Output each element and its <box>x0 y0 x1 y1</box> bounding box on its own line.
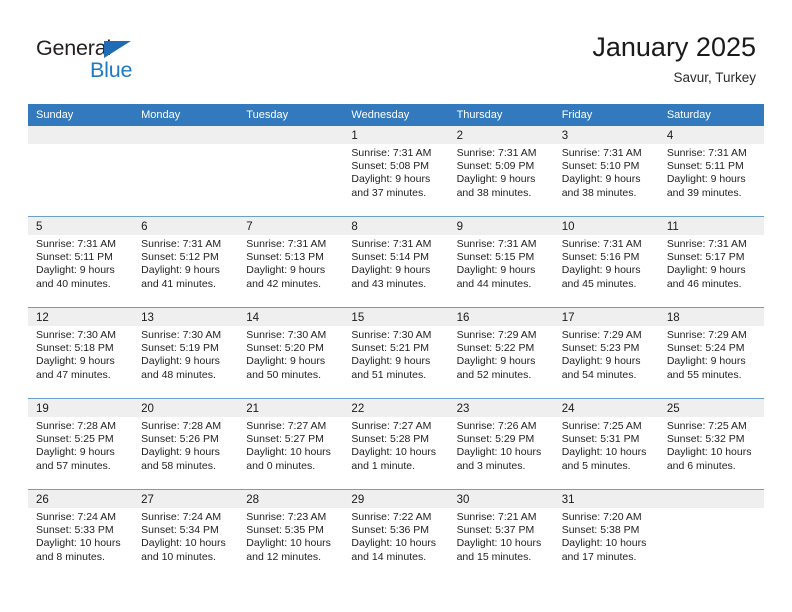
day-details: Sunrise: 7:26 AMSunset: 5:29 PMDaylight:… <box>449 417 554 473</box>
day-number-band: 25 <box>659 399 764 417</box>
calendar-day-cell[interactable]: 11Sunrise: 7:31 AMSunset: 5:17 PMDayligh… <box>659 217 764 307</box>
calendar-day-cell[interactable]: 19Sunrise: 7:28 AMSunset: 5:25 PMDayligh… <box>28 399 133 489</box>
calendar-body: 1Sunrise: 7:31 AMSunset: 5:08 PMDaylight… <box>28 126 764 580</box>
day-detail-line: and 50 minutes. <box>246 369 337 382</box>
day-number: 26 <box>36 494 49 506</box>
day-details: Sunrise: 7:24 AMSunset: 5:34 PMDaylight:… <box>133 508 238 564</box>
day-number-band: 11 <box>659 217 764 235</box>
day-number-band: 23 <box>449 399 554 417</box>
day-number-band: 2 <box>449 126 554 144</box>
day-detail-line: and 48 minutes. <box>141 369 232 382</box>
day-details: Sunrise: 7:28 AMSunset: 5:25 PMDaylight:… <box>28 417 133 473</box>
day-detail-line: Daylight: 9 hours <box>351 173 442 186</box>
day-number: 16 <box>457 312 470 324</box>
day-number: 19 <box>36 403 49 415</box>
day-number: 2 <box>457 130 463 142</box>
day-detail-line: and 41 minutes. <box>141 278 232 291</box>
day-detail-line: Sunset: 5:20 PM <box>246 342 337 355</box>
day-detail-line: Daylight: 9 hours <box>351 264 442 277</box>
day-detail-line: Sunrise: 7:20 AM <box>562 511 653 524</box>
day-details <box>133 144 238 147</box>
calendar-day-cell[interactable]: 1Sunrise: 7:31 AMSunset: 5:08 PMDaylight… <box>343 126 448 216</box>
calendar-day-cell[interactable]: 20Sunrise: 7:28 AMSunset: 5:26 PMDayligh… <box>133 399 238 489</box>
day-detail-line: and 54 minutes. <box>562 369 653 382</box>
calendar-day-cell[interactable]: 21Sunrise: 7:27 AMSunset: 5:27 PMDayligh… <box>238 399 343 489</box>
day-detail-line: and 5 minutes. <box>562 460 653 473</box>
day-number-band: 26 <box>28 490 133 508</box>
day-detail-line: Sunrise: 7:30 AM <box>246 329 337 342</box>
day-details: Sunrise: 7:30 AMSunset: 5:18 PMDaylight:… <box>28 326 133 382</box>
day-detail-line: Sunset: 5:33 PM <box>36 524 127 537</box>
day-detail-line: Daylight: 9 hours <box>457 355 548 368</box>
general-blue-logo[interactable]: General Blue <box>36 38 166 88</box>
day-detail-line: Sunset: 5:26 PM <box>141 433 232 446</box>
day-details: Sunrise: 7:30 AMSunset: 5:19 PMDaylight:… <box>133 326 238 382</box>
calendar-day-cell[interactable]: 17Sunrise: 7:29 AMSunset: 5:23 PMDayligh… <box>554 308 659 398</box>
day-detail-line: Sunset: 5:29 PM <box>457 433 548 446</box>
day-detail-line: Sunrise: 7:24 AM <box>36 511 127 524</box>
day-number-band: 5 <box>28 217 133 235</box>
day-detail-line: Sunrise: 7:31 AM <box>246 238 337 251</box>
calendar-grid: SundayMondayTuesdayWednesdayThursdayFrid… <box>28 104 764 580</box>
weekday-header-sunday: Sunday <box>28 104 133 126</box>
day-details: Sunrise: 7:20 AMSunset: 5:38 PMDaylight:… <box>554 508 659 564</box>
day-detail-line: Daylight: 9 hours <box>36 446 127 459</box>
title-block: January 2025 Savur, Turkey <box>592 32 756 86</box>
day-detail-line: Sunset: 5:38 PM <box>562 524 653 537</box>
day-number: 13 <box>141 312 154 324</box>
day-number-band: 16 <box>449 308 554 326</box>
calendar-day-cell[interactable]: 10Sunrise: 7:31 AMSunset: 5:16 PMDayligh… <box>554 217 659 307</box>
day-details: Sunrise: 7:31 AMSunset: 5:11 PMDaylight:… <box>659 144 764 200</box>
day-number-band: 30 <box>449 490 554 508</box>
day-number: 24 <box>562 403 575 415</box>
calendar-day-cell[interactable]: 23Sunrise: 7:26 AMSunset: 5:29 PMDayligh… <box>449 399 554 489</box>
day-number-band: 27 <box>133 490 238 508</box>
day-detail-line: and 42 minutes. <box>246 278 337 291</box>
calendar-day-cell[interactable]: 15Sunrise: 7:30 AMSunset: 5:21 PMDayligh… <box>343 308 448 398</box>
day-detail-line: Daylight: 10 hours <box>141 537 232 550</box>
day-number: 4 <box>667 130 673 142</box>
day-detail-line: and 0 minutes. <box>246 460 337 473</box>
day-number-band: 9 <box>449 217 554 235</box>
day-details: Sunrise: 7:22 AMSunset: 5:36 PMDaylight:… <box>343 508 448 564</box>
calendar-day-cell[interactable]: 4Sunrise: 7:31 AMSunset: 5:11 PMDaylight… <box>659 126 764 216</box>
calendar-day-cell[interactable]: 7Sunrise: 7:31 AMSunset: 5:13 PMDaylight… <box>238 217 343 307</box>
day-detail-line: and 17 minutes. <box>562 551 653 564</box>
day-detail-line: Sunrise: 7:31 AM <box>562 147 653 160</box>
day-detail-line: Daylight: 10 hours <box>351 537 442 550</box>
calendar-day-cell[interactable]: 16Sunrise: 7:29 AMSunset: 5:22 PMDayligh… <box>449 308 554 398</box>
day-detail-line: Sunset: 5:35 PM <box>246 524 337 537</box>
calendar-day-cell[interactable]: 18Sunrise: 7:29 AMSunset: 5:24 PMDayligh… <box>659 308 764 398</box>
calendar-day-cell[interactable]: 8Sunrise: 7:31 AMSunset: 5:14 PMDaylight… <box>343 217 448 307</box>
day-details: Sunrise: 7:28 AMSunset: 5:26 PMDaylight:… <box>133 417 238 473</box>
day-detail-line: Daylight: 9 hours <box>667 264 758 277</box>
day-detail-line: and 15 minutes. <box>457 551 548 564</box>
day-number-band: 4 <box>659 126 764 144</box>
day-detail-line: Daylight: 9 hours <box>562 355 653 368</box>
calendar-day-cell-empty <box>133 126 238 216</box>
calendar-day-cell[interactable]: 2Sunrise: 7:31 AMSunset: 5:09 PMDaylight… <box>449 126 554 216</box>
day-detail-line: Sunset: 5:21 PM <box>351 342 442 355</box>
day-detail-line: Sunset: 5:22 PM <box>457 342 548 355</box>
day-details: Sunrise: 7:31 AMSunset: 5:15 PMDaylight:… <box>449 235 554 291</box>
day-detail-line: Sunrise: 7:28 AM <box>36 420 127 433</box>
day-detail-line: Sunset: 5:11 PM <box>36 251 127 264</box>
day-detail-line: Daylight: 9 hours <box>36 264 127 277</box>
day-detail-line: Sunrise: 7:29 AM <box>667 329 758 342</box>
day-number: 23 <box>457 403 470 415</box>
day-detail-line: and 55 minutes. <box>667 369 758 382</box>
day-details <box>238 144 343 147</box>
day-detail-line: Sunset: 5:23 PM <box>562 342 653 355</box>
calendar-week-row: 12Sunrise: 7:30 AMSunset: 5:18 PMDayligh… <box>28 308 764 399</box>
day-detail-line: Daylight: 10 hours <box>457 446 548 459</box>
day-detail-line: Sunrise: 7:29 AM <box>562 329 653 342</box>
day-number-band: 6 <box>133 217 238 235</box>
day-detail-line: Daylight: 10 hours <box>562 537 653 550</box>
day-number: 6 <box>141 221 147 233</box>
day-detail-line: Sunrise: 7:22 AM <box>351 511 442 524</box>
day-detail-line: Sunrise: 7:31 AM <box>457 147 548 160</box>
day-details: Sunrise: 7:31 AMSunset: 5:12 PMDaylight:… <box>133 235 238 291</box>
day-number-band <box>238 126 343 144</box>
day-detail-line: Sunrise: 7:29 AM <box>457 329 548 342</box>
day-detail-line: and 40 minutes. <box>36 278 127 291</box>
calendar-day-cell-empty <box>28 126 133 216</box>
day-number: 25 <box>667 403 680 415</box>
day-number: 17 <box>562 312 575 324</box>
calendar-week-row: 26Sunrise: 7:24 AMSunset: 5:33 PMDayligh… <box>28 490 764 580</box>
day-details: Sunrise: 7:31 AMSunset: 5:11 PMDaylight:… <box>28 235 133 291</box>
triangle-icon <box>104 41 131 58</box>
day-detail-line: Sunset: 5:24 PM <box>667 342 758 355</box>
day-detail-line: Daylight: 9 hours <box>457 264 548 277</box>
day-number-band: 8 <box>343 217 448 235</box>
calendar-day-cell[interactable]: 29Sunrise: 7:22 AMSunset: 5:36 PMDayligh… <box>343 490 448 580</box>
day-number: 11 <box>667 221 679 233</box>
day-number: 21 <box>246 403 259 415</box>
day-details: Sunrise: 7:31 AMSunset: 5:13 PMDaylight:… <box>238 235 343 291</box>
day-detail-line: Sunrise: 7:24 AM <box>141 511 232 524</box>
page-title: January 2025 <box>592 32 756 63</box>
day-detail-line: and 3 minutes. <box>457 460 548 473</box>
day-detail-line: Sunrise: 7:31 AM <box>457 238 548 251</box>
day-number-band: 15 <box>343 308 448 326</box>
day-number-band: 24 <box>554 399 659 417</box>
weekday-header-tuesday: Tuesday <box>238 104 343 126</box>
calendar-day-cell[interactable]: 25Sunrise: 7:25 AMSunset: 5:32 PMDayligh… <box>659 399 764 489</box>
day-detail-line: Sunrise: 7:28 AM <box>141 420 232 433</box>
weekday-header-saturday: Saturday <box>659 104 764 126</box>
day-number-band: 29 <box>343 490 448 508</box>
day-details: Sunrise: 7:27 AMSunset: 5:28 PMDaylight:… <box>343 417 448 473</box>
day-detail-line: Daylight: 9 hours <box>351 355 442 368</box>
calendar-day-cell[interactable]: 28Sunrise: 7:23 AMSunset: 5:35 PMDayligh… <box>238 490 343 580</box>
day-detail-line: Sunrise: 7:31 AM <box>562 238 653 251</box>
day-number-band <box>133 126 238 144</box>
day-details: Sunrise: 7:30 AMSunset: 5:21 PMDaylight:… <box>343 326 448 382</box>
day-number-band: 3 <box>554 126 659 144</box>
day-detail-line: Daylight: 9 hours <box>141 355 232 368</box>
day-number-band: 1 <box>343 126 448 144</box>
day-number-band: 20 <box>133 399 238 417</box>
day-detail-line: Sunrise: 7:25 AM <box>667 420 758 433</box>
day-number-band: 7 <box>238 217 343 235</box>
day-number: 5 <box>36 221 42 233</box>
day-details <box>659 508 764 511</box>
calendar-day-cell[interactable]: 22Sunrise: 7:27 AMSunset: 5:28 PMDayligh… <box>343 399 448 489</box>
day-number: 20 <box>141 403 154 415</box>
day-detail-line: Daylight: 10 hours <box>36 537 127 550</box>
day-number-band: 13 <box>133 308 238 326</box>
day-detail-line: Sunrise: 7:30 AM <box>141 329 232 342</box>
day-detail-line: Daylight: 10 hours <box>457 537 548 550</box>
day-detail-line: Sunrise: 7:31 AM <box>36 238 127 251</box>
day-detail-line: and 12 minutes. <box>246 551 337 564</box>
day-number: 9 <box>457 221 463 233</box>
day-detail-line: Daylight: 10 hours <box>351 446 442 459</box>
day-detail-line: Daylight: 10 hours <box>667 446 758 459</box>
calendar-day-cell[interactable]: 9Sunrise: 7:31 AMSunset: 5:15 PMDaylight… <box>449 217 554 307</box>
day-number: 14 <box>246 312 259 324</box>
day-detail-line: Sunrise: 7:31 AM <box>141 238 232 251</box>
day-detail-line: and 38 minutes. <box>562 187 653 200</box>
day-detail-line: Sunset: 5:13 PM <box>246 251 337 264</box>
day-details: Sunrise: 7:29 AMSunset: 5:24 PMDaylight:… <box>659 326 764 382</box>
logo-text-general: General <box>36 38 111 60</box>
day-number-band: 17 <box>554 308 659 326</box>
day-detail-line: and 44 minutes. <box>457 278 548 291</box>
calendar-page: General Blue January 2025 Savur, Turkey … <box>0 0 792 612</box>
weekday-header-thursday: Thursday <box>449 104 554 126</box>
calendar-day-cell[interactable]: 24Sunrise: 7:25 AMSunset: 5:31 PMDayligh… <box>554 399 659 489</box>
calendar-day-cell[interactable]: 30Sunrise: 7:21 AMSunset: 5:37 PMDayligh… <box>449 490 554 580</box>
day-detail-line: Sunrise: 7:31 AM <box>667 147 758 160</box>
day-detail-line: Sunset: 5:15 PM <box>457 251 548 264</box>
day-number: 12 <box>36 312 49 324</box>
weekday-header-wednesday: Wednesday <box>343 104 448 126</box>
day-detail-line: Sunset: 5:18 PM <box>36 342 127 355</box>
day-detail-line: Daylight: 10 hours <box>246 446 337 459</box>
page-header: General Blue January 2025 Savur, Turkey <box>0 0 792 100</box>
day-details: Sunrise: 7:21 AMSunset: 5:37 PMDaylight:… <box>449 508 554 564</box>
day-number: 30 <box>457 494 470 506</box>
day-number-band: 10 <box>554 217 659 235</box>
day-detail-line: and 58 minutes. <box>141 460 232 473</box>
day-detail-line: and 47 minutes. <box>36 369 127 382</box>
day-detail-line: Sunset: 5:16 PM <box>562 251 653 264</box>
day-number: 10 <box>562 221 575 233</box>
day-detail-line: Sunset: 5:37 PM <box>457 524 548 537</box>
day-details: Sunrise: 7:29 AMSunset: 5:23 PMDaylight:… <box>554 326 659 382</box>
day-details: Sunrise: 7:23 AMSunset: 5:35 PMDaylight:… <box>238 508 343 564</box>
day-detail-line: Sunrise: 7:30 AM <box>36 329 127 342</box>
day-detail-line: Daylight: 9 hours <box>141 264 232 277</box>
calendar-day-cell-empty <box>238 126 343 216</box>
day-detail-line: Daylight: 9 hours <box>36 355 127 368</box>
day-details: Sunrise: 7:31 AMSunset: 5:14 PMDaylight:… <box>343 235 448 291</box>
calendar-week-row: 19Sunrise: 7:28 AMSunset: 5:25 PMDayligh… <box>28 399 764 490</box>
day-detail-line: Sunset: 5:11 PM <box>667 160 758 173</box>
day-number: 1 <box>351 130 357 142</box>
day-details: Sunrise: 7:25 AMSunset: 5:31 PMDaylight:… <box>554 417 659 473</box>
day-detail-line: Sunset: 5:19 PM <box>141 342 232 355</box>
day-detail-line: Sunrise: 7:23 AM <box>246 511 337 524</box>
calendar-week-row: 5Sunrise: 7:31 AMSunset: 5:11 PMDaylight… <box>28 217 764 308</box>
day-number: 3 <box>562 130 568 142</box>
day-detail-line: and 37 minutes. <box>351 187 442 200</box>
day-detail-line: Daylight: 9 hours <box>562 264 653 277</box>
day-details: Sunrise: 7:31 AMSunset: 5:09 PMDaylight:… <box>449 144 554 200</box>
day-number-band <box>659 490 764 508</box>
day-details: Sunrise: 7:31 AMSunset: 5:17 PMDaylight:… <box>659 235 764 291</box>
day-number: 29 <box>351 494 364 506</box>
day-detail-line: Daylight: 9 hours <box>667 173 758 186</box>
day-detail-line: Sunset: 5:14 PM <box>351 251 442 264</box>
day-detail-line: and 6 minutes. <box>667 460 758 473</box>
day-number-band: 12 <box>28 308 133 326</box>
day-number: 7 <box>246 221 252 233</box>
day-detail-line: and 14 minutes. <box>351 551 442 564</box>
day-detail-line: and 8 minutes. <box>36 551 127 564</box>
weekday-header-row: SundayMondayTuesdayWednesdayThursdayFrid… <box>28 104 764 126</box>
day-details: Sunrise: 7:29 AMSunset: 5:22 PMDaylight:… <box>449 326 554 382</box>
calendar-week-row: 1Sunrise: 7:31 AMSunset: 5:08 PMDaylight… <box>28 126 764 217</box>
day-detail-line: Sunset: 5:17 PM <box>667 251 758 264</box>
day-number: 15 <box>351 312 364 324</box>
day-detail-line: Daylight: 9 hours <box>246 264 337 277</box>
day-detail-line: Sunrise: 7:25 AM <box>562 420 653 433</box>
page-subtitle: Savur, Turkey <box>592 70 756 86</box>
calendar-day-cell[interactable]: 12Sunrise: 7:30 AMSunset: 5:18 PMDayligh… <box>28 308 133 398</box>
day-detail-line: Sunset: 5:27 PM <box>246 433 337 446</box>
day-number-band: 28 <box>238 490 343 508</box>
day-detail-line: Sunrise: 7:27 AM <box>351 420 442 433</box>
day-detail-line: Sunrise: 7:27 AM <box>246 420 337 433</box>
day-number-band <box>28 126 133 144</box>
day-detail-line: and 51 minutes. <box>351 369 442 382</box>
day-detail-line: Daylight: 9 hours <box>246 355 337 368</box>
day-detail-line: Daylight: 9 hours <box>141 446 232 459</box>
day-number-band: 18 <box>659 308 764 326</box>
day-detail-line: and 52 minutes. <box>457 369 548 382</box>
day-detail-line: Sunrise: 7:31 AM <box>351 238 442 251</box>
day-detail-line: Sunrise: 7:31 AM <box>351 147 442 160</box>
weekday-header-friday: Friday <box>554 104 659 126</box>
day-detail-line: Sunset: 5:09 PM <box>457 160 548 173</box>
day-details: Sunrise: 7:30 AMSunset: 5:20 PMDaylight:… <box>238 326 343 382</box>
calendar-day-cell[interactable]: 5Sunrise: 7:31 AMSunset: 5:11 PMDaylight… <box>28 217 133 307</box>
day-detail-line: Sunset: 5:31 PM <box>562 433 653 446</box>
day-detail-line: Daylight: 9 hours <box>667 355 758 368</box>
day-number-band: 22 <box>343 399 448 417</box>
day-details: Sunrise: 7:31 AMSunset: 5:16 PMDaylight:… <box>554 235 659 291</box>
day-number: 31 <box>562 494 575 506</box>
day-detail-line: Sunset: 5:12 PM <box>141 251 232 264</box>
day-number: 8 <box>351 221 357 233</box>
day-detail-line: Sunrise: 7:31 AM <box>667 238 758 251</box>
day-number: 22 <box>351 403 364 415</box>
day-detail-line: Sunset: 5:28 PM <box>351 433 442 446</box>
calendar-day-cell[interactable]: 26Sunrise: 7:24 AMSunset: 5:33 PMDayligh… <box>28 490 133 580</box>
day-details: Sunrise: 7:31 AMSunset: 5:08 PMDaylight:… <box>343 144 448 200</box>
day-number: 18 <box>667 312 680 324</box>
day-detail-line: Daylight: 10 hours <box>562 446 653 459</box>
day-detail-line: and 46 minutes. <box>667 278 758 291</box>
day-detail-line: and 45 minutes. <box>562 278 653 291</box>
day-detail-line: Sunrise: 7:26 AM <box>457 420 548 433</box>
day-detail-line: Sunset: 5:25 PM <box>36 433 127 446</box>
day-detail-line: Sunset: 5:36 PM <box>351 524 442 537</box>
day-detail-line: Sunrise: 7:30 AM <box>351 329 442 342</box>
calendar-day-cell[interactable]: 31Sunrise: 7:20 AMSunset: 5:38 PMDayligh… <box>554 490 659 580</box>
day-detail-line: Sunset: 5:34 PM <box>141 524 232 537</box>
day-detail-line: Sunset: 5:32 PM <box>667 433 758 446</box>
calendar-day-cell[interactable]: 13Sunrise: 7:30 AMSunset: 5:19 PMDayligh… <box>133 308 238 398</box>
day-detail-line: Daylight: 9 hours <box>457 173 548 186</box>
calendar-day-cell[interactable]: 27Sunrise: 7:24 AMSunset: 5:34 PMDayligh… <box>133 490 238 580</box>
day-number-band: 14 <box>238 308 343 326</box>
day-detail-line: Daylight: 9 hours <box>562 173 653 186</box>
day-detail-line: and 39 minutes. <box>667 187 758 200</box>
day-details: Sunrise: 7:27 AMSunset: 5:27 PMDaylight:… <box>238 417 343 473</box>
day-number: 28 <box>246 494 259 506</box>
day-detail-line: Sunset: 5:10 PM <box>562 160 653 173</box>
day-detail-line: and 38 minutes. <box>457 187 548 200</box>
day-detail-line: Daylight: 10 hours <box>246 537 337 550</box>
day-details: Sunrise: 7:31 AMSunset: 5:10 PMDaylight:… <box>554 144 659 200</box>
calendar-day-cell-empty <box>659 490 764 580</box>
day-detail-line: and 43 minutes. <box>351 278 442 291</box>
calendar-day-cell[interactable]: 14Sunrise: 7:30 AMSunset: 5:20 PMDayligh… <box>238 308 343 398</box>
calendar-day-cell[interactable]: 3Sunrise: 7:31 AMSunset: 5:10 PMDaylight… <box>554 126 659 216</box>
day-number: 27 <box>141 494 154 506</box>
calendar-day-cell[interactable]: 6Sunrise: 7:31 AMSunset: 5:12 PMDaylight… <box>133 217 238 307</box>
day-details <box>28 144 133 147</box>
weekday-header-monday: Monday <box>133 104 238 126</box>
day-detail-line: and 10 minutes. <box>141 551 232 564</box>
day-details: Sunrise: 7:25 AMSunset: 5:32 PMDaylight:… <box>659 417 764 473</box>
day-detail-line: and 1 minute. <box>351 460 442 473</box>
day-details: Sunrise: 7:24 AMSunset: 5:33 PMDaylight:… <box>28 508 133 564</box>
day-detail-line: Sunset: 5:08 PM <box>351 160 442 173</box>
day-number-band: 21 <box>238 399 343 417</box>
day-detail-line: Sunrise: 7:21 AM <box>457 511 548 524</box>
day-number-band: 19 <box>28 399 133 417</box>
day-number-band: 31 <box>554 490 659 508</box>
logo-text-blue: Blue <box>90 60 132 82</box>
day-detail-line: and 57 minutes. <box>36 460 127 473</box>
